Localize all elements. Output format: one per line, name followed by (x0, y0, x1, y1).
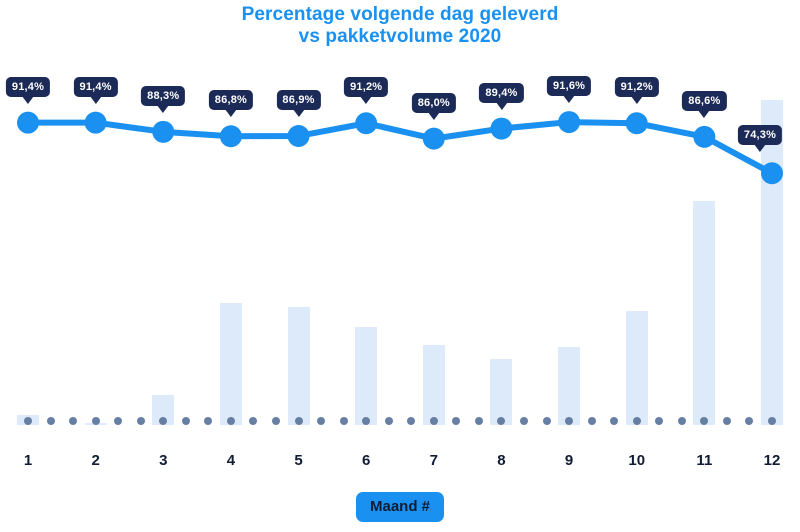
bar (288, 307, 310, 425)
baseline-dot (633, 417, 641, 425)
baseline-dot (385, 417, 393, 425)
value-badge: 91,2% (615, 77, 659, 97)
value-badge: 91,4% (6, 77, 50, 97)
baseline-dot (610, 417, 618, 425)
value-badge: 89,4% (479, 83, 523, 103)
baseline-dot (24, 417, 32, 425)
baseline-dot (678, 417, 686, 425)
x-axis-tick: 5 (294, 452, 302, 469)
x-axis-tick: 7 (430, 452, 438, 469)
bar (626, 311, 648, 425)
baseline-dot (204, 417, 212, 425)
baseline-dot (114, 417, 122, 425)
baseline-dot (452, 417, 460, 425)
baseline-dot (317, 417, 325, 425)
baseline-dot (407, 417, 415, 425)
x-axis-tick: 11 (696, 452, 712, 469)
bar (355, 327, 377, 425)
value-badge: 86,0% (412, 93, 456, 113)
baseline-dot (137, 417, 145, 425)
value-badge: 91,4% (74, 77, 118, 97)
line-path (28, 122, 772, 173)
x-axis-tick: 9 (565, 452, 573, 469)
x-axis: 123456789101112 (0, 452, 800, 478)
baseline-dot (227, 417, 235, 425)
baseline-dot (295, 417, 303, 425)
bar (423, 345, 445, 426)
bar (558, 347, 580, 425)
value-badge: 88,3% (141, 86, 185, 106)
data-point-marker[interactable] (693, 126, 715, 148)
x-axis-tick: 3 (159, 452, 167, 469)
x-axis-tick: 2 (91, 452, 99, 469)
bar (490, 359, 512, 425)
data-point-marker[interactable] (490, 118, 512, 140)
baseline-dot (588, 417, 596, 425)
baseline-dot (745, 417, 753, 425)
data-point-marker[interactable] (355, 112, 377, 134)
value-badge: 86,8% (209, 90, 253, 110)
baseline-dot (69, 417, 77, 425)
data-point-marker[interactable] (288, 125, 310, 147)
value-badge: 91,2% (344, 77, 388, 97)
line-series-layer (0, 0, 800, 440)
plot-area: 91,4%91,4%88,3%86,8%86,9%91,2%86,0%89,4%… (0, 0, 800, 440)
baseline-dot (475, 417, 483, 425)
x-axis-tick: 6 (362, 452, 370, 469)
bar (220, 303, 242, 425)
baseline-dot (723, 417, 731, 425)
baseline-dot (768, 417, 776, 425)
x-axis-tick: 4 (227, 452, 235, 469)
x-axis-tick: 8 (497, 452, 505, 469)
data-point-marker[interactable] (220, 125, 242, 147)
value-badge: 86,6% (682, 91, 726, 111)
baseline-dot (249, 417, 257, 425)
baseline-dot (47, 417, 55, 425)
data-point-marker[interactable] (85, 112, 107, 134)
baseline-dot (430, 417, 438, 425)
x-axis-title-pill: Maand # (356, 492, 444, 522)
value-badge: 91,6% (547, 76, 591, 96)
data-point-marker[interactable] (423, 128, 445, 150)
baseline-dot (182, 417, 190, 425)
baseline-dot (520, 417, 528, 425)
data-point-marker[interactable] (17, 112, 39, 134)
value-badge: 74,3% (738, 125, 782, 145)
data-point-marker[interactable] (558, 111, 580, 133)
x-axis-tick: 1 (24, 452, 32, 469)
chart-container: Percentage volgende dag geleverd vs pakk… (0, 0, 800, 532)
value-badge: 86,9% (276, 90, 320, 110)
data-point-marker[interactable] (626, 112, 648, 134)
x-axis-tick: 10 (628, 452, 645, 469)
baseline-dot (655, 417, 663, 425)
baseline-dot (92, 417, 100, 425)
baseline-dot (543, 417, 551, 425)
baseline-dot (272, 417, 280, 425)
data-point-marker[interactable] (152, 121, 174, 143)
baseline-dot (340, 417, 348, 425)
bar (693, 201, 715, 425)
x-axis-tick: 12 (764, 452, 781, 469)
